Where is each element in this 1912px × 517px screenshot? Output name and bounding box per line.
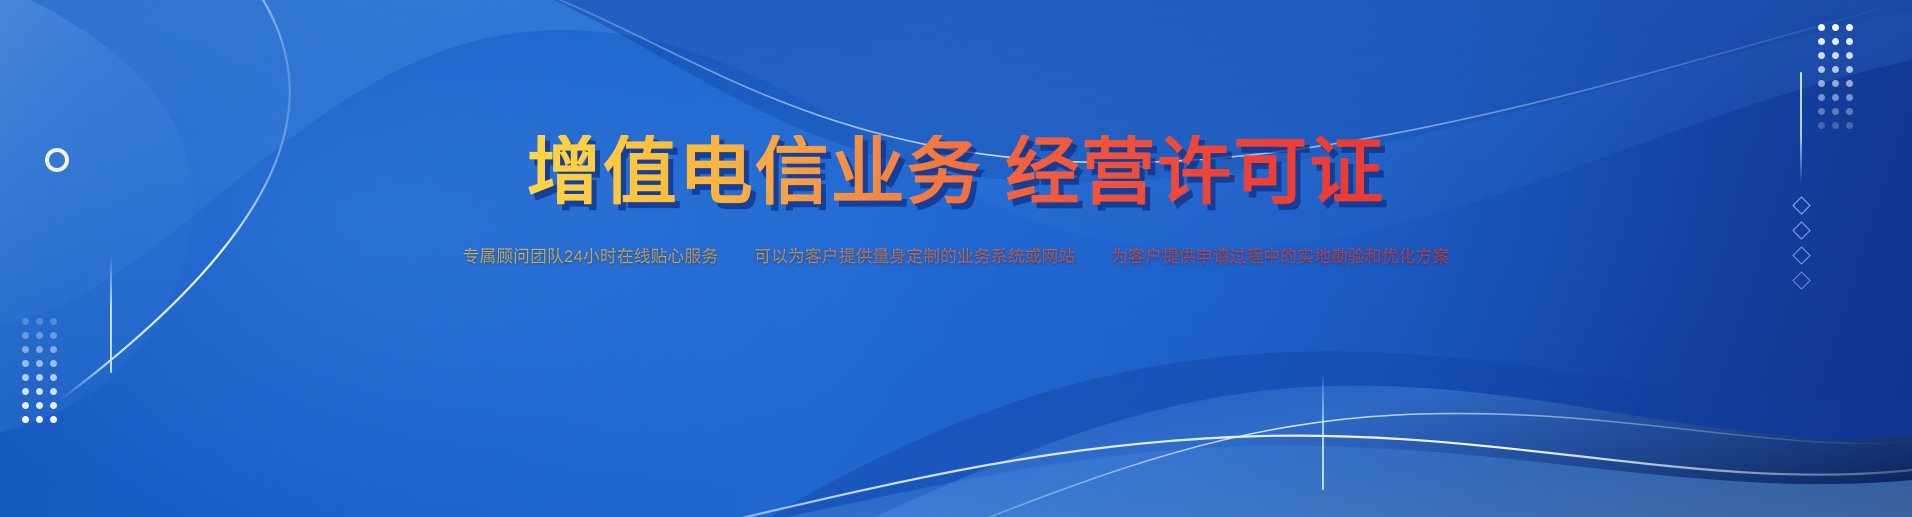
promo-banner: 增值电信业务 经营许可证 增值电信业务 经营许可证 专属顾问团队24小时在线贴心… [0,0,1912,517]
banner-title: 增值电信业务 经营许可证 [527,135,1386,209]
banner-content: 增值电信业务 经营许可证 增值电信业务 经营许可证 专属顾问团队24小时在线贴心… [0,0,1912,517]
banner-subtitle: 专属顾问团队24小时在线贴心服务 可以为客户提供量身定制的业务系统或网站 为客户… [463,243,1450,267]
subtitle-part-1: 专属顾问团队24小时在线贴心服务 [463,248,719,266]
subtitle-part-3: 为客户提供申请过程中的实地勘验和优化方案 [1111,248,1449,266]
banner-title-wrapper: 增值电信业务 经营许可证 增值电信业务 经营许可证 [527,135,1386,209]
subtitle-part-2: 可以为客户提供量身定制的业务系统或网站 [754,248,1075,266]
